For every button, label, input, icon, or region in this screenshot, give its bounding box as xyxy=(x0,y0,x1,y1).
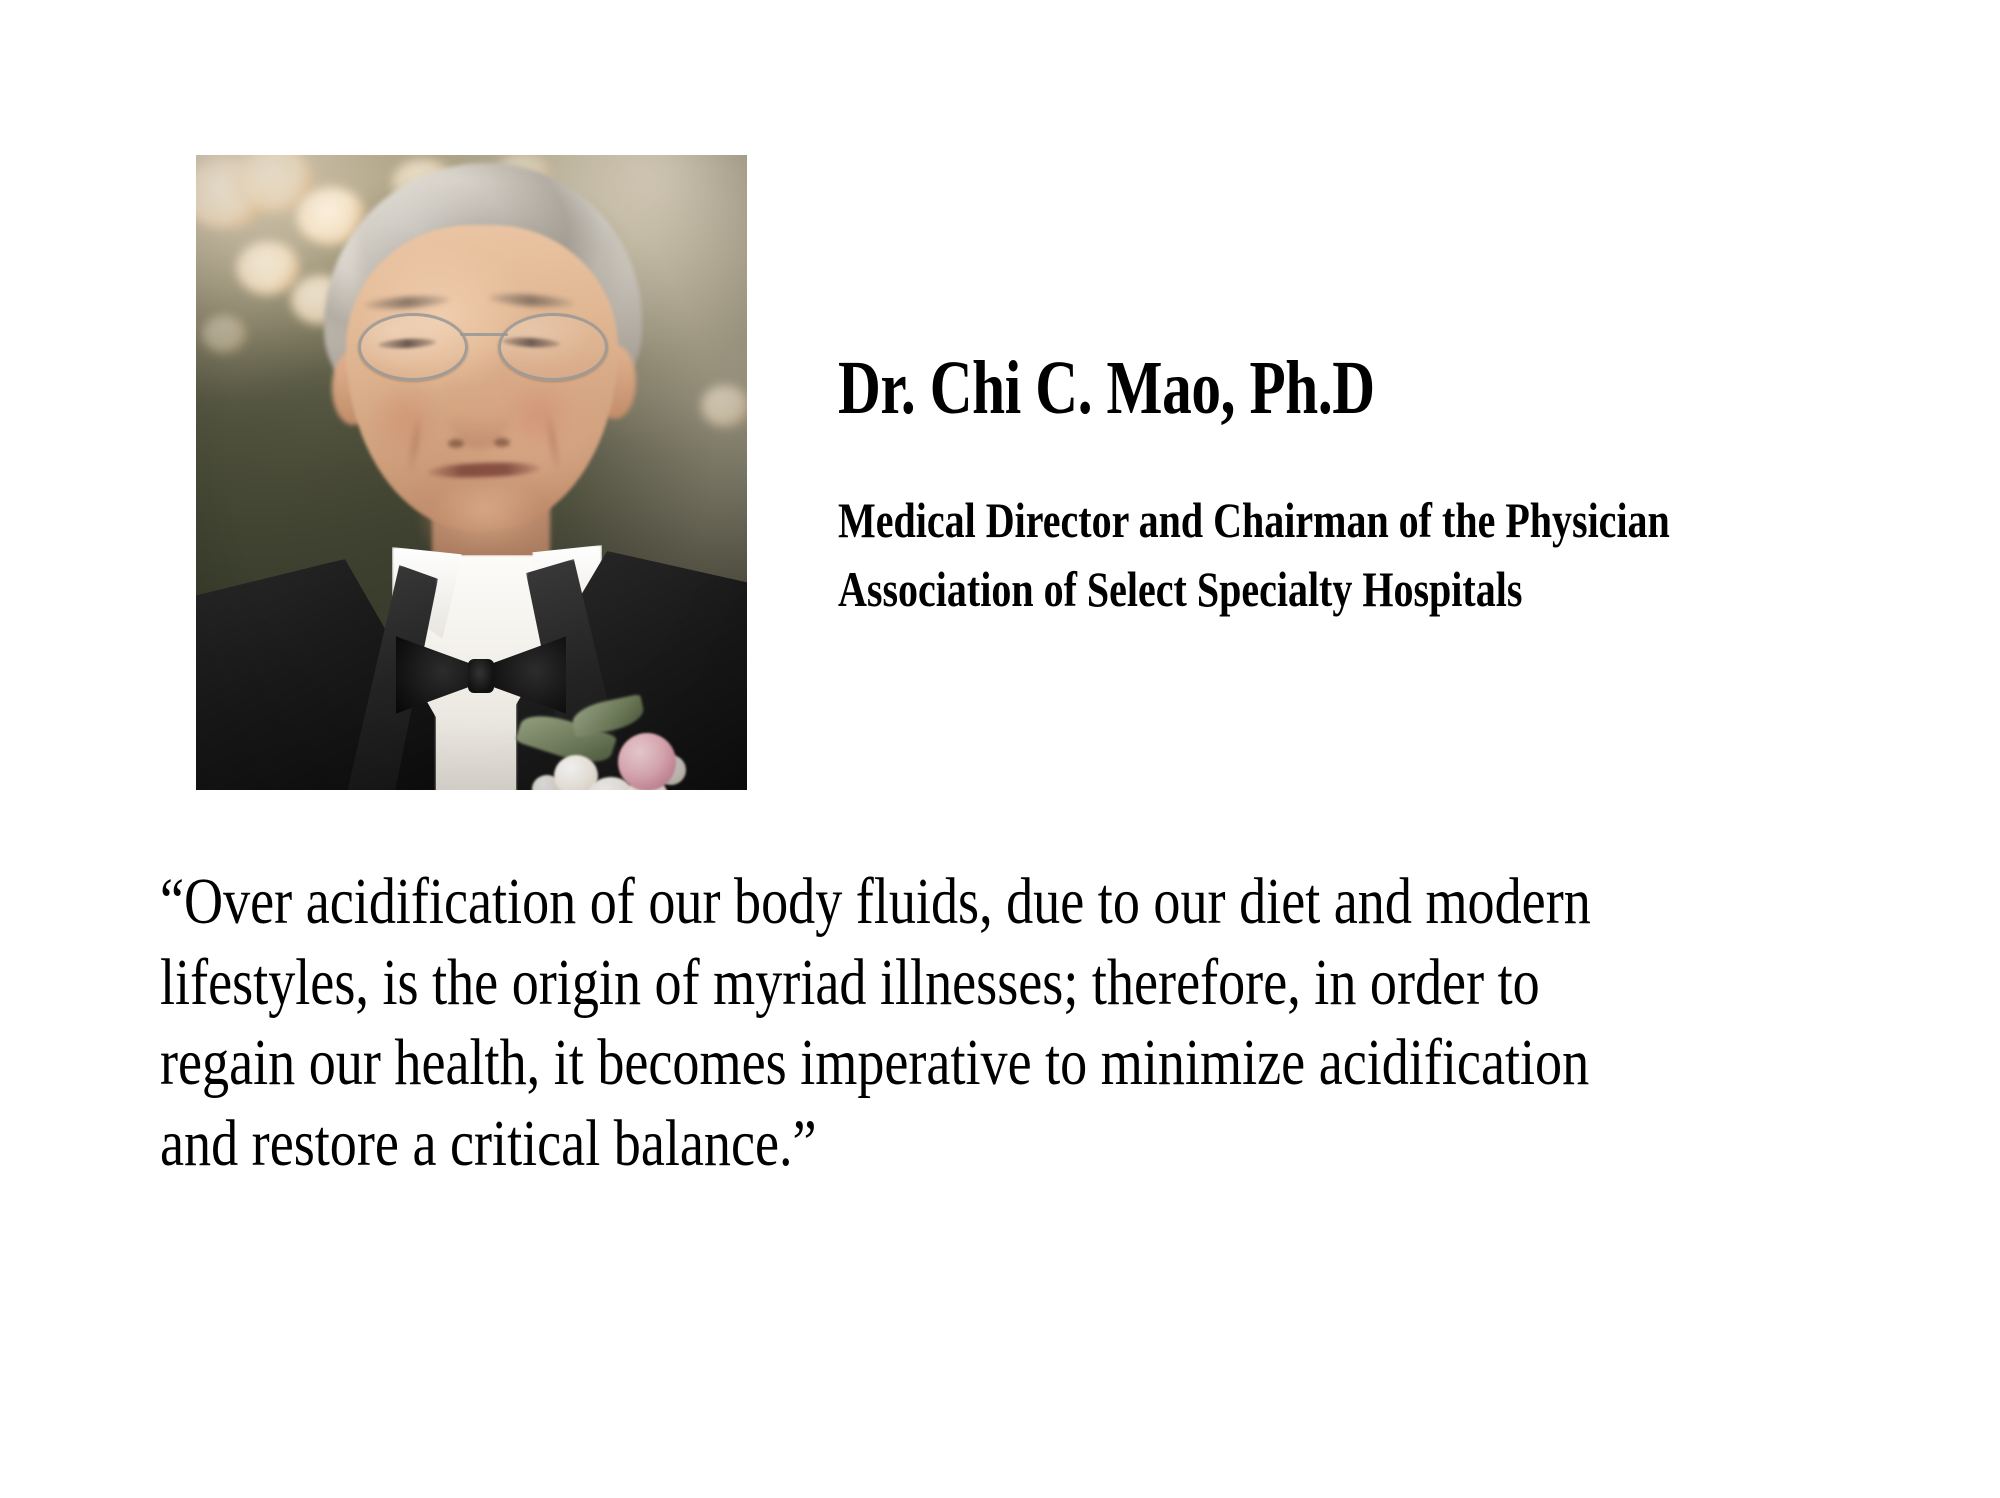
portrait-subject xyxy=(196,155,747,790)
nostril-right xyxy=(494,438,510,447)
bow-tie-wing-left xyxy=(396,633,474,717)
portrait-stage xyxy=(196,155,747,790)
speaker-title-line: Association of Select Specialty Hospital… xyxy=(838,555,1678,624)
slide-canvas: Dr. Chi C. Mao, Ph.D Medical Director an… xyxy=(0,0,2000,1498)
speaker-title: Medical Director and Chairman of the Phy… xyxy=(838,486,1678,624)
chin xyxy=(422,485,550,557)
speaker-portrait-photo xyxy=(196,155,747,790)
lens-left xyxy=(358,313,468,381)
quote-line: lifestyles, is the origin of myriad illn… xyxy=(160,943,1718,1024)
eyeglasses-icon xyxy=(352,313,614,383)
pink-rose-icon xyxy=(618,733,676,790)
quote-line: regain our health, it becomes imperative… xyxy=(160,1023,1718,1104)
pull-quote: “Over acidification of our body fluids, … xyxy=(160,862,1718,1184)
lens-right xyxy=(498,313,608,381)
speaker-name-heading: Dr. Chi C. Mao, Ph.D xyxy=(838,350,1375,426)
speaker-title-line: Medical Director and Chairman of the Phy… xyxy=(838,486,1678,555)
quote-line: “Over acidification of our body fluids, … xyxy=(160,862,1718,943)
bow-tie-knot xyxy=(468,659,494,693)
nostril-left xyxy=(448,439,464,448)
floral-boutonniere xyxy=(514,703,704,790)
quote-line: and restore a critical balance.” xyxy=(160,1104,1718,1185)
glasses-bridge xyxy=(460,333,508,336)
cheek-left xyxy=(364,385,450,451)
